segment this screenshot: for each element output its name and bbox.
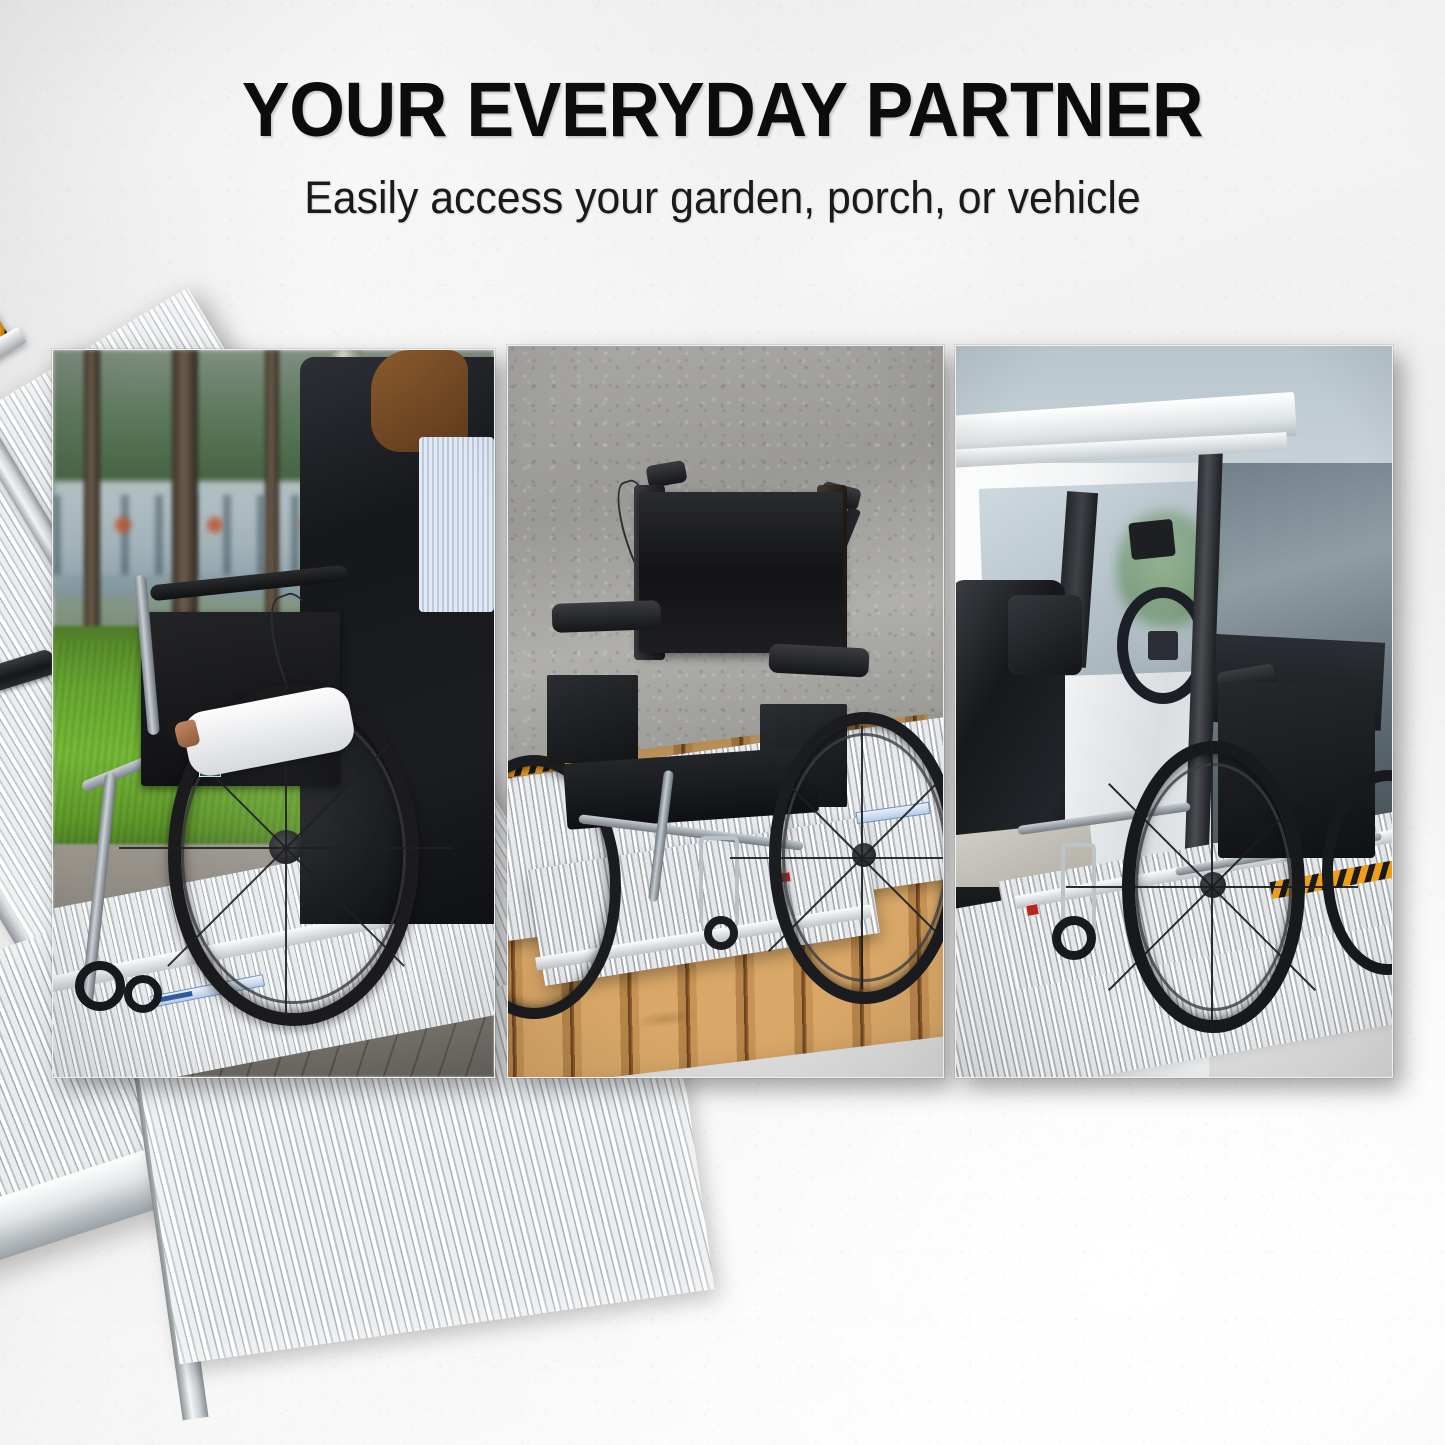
ramp-warning-label xyxy=(1025,903,1040,917)
wheelchair-armrest xyxy=(551,600,661,633)
wheelchair-armrest xyxy=(768,643,869,677)
panel-park-scene[interactable] xyxy=(52,349,495,1078)
panel-van-loading[interactable] xyxy=(955,345,1393,1078)
page-subtitle: Easily access your garden, porch, or veh… xyxy=(36,175,1409,220)
attendant-shirt xyxy=(419,437,494,611)
page-title: YOUR EVERYDAY PARTNER xyxy=(51,72,1395,149)
photo-van xyxy=(956,346,1392,1077)
poster-canvas: YOUR EVERYDAY PARTNER Easily access your… xyxy=(0,0,1445,1445)
wheelchair-backrest xyxy=(639,492,843,653)
rear-view-mirror xyxy=(1129,519,1176,560)
wheelchair-side-panel xyxy=(547,675,638,763)
photo-deck xyxy=(508,346,943,1077)
wheelchair-castor xyxy=(1052,916,1096,960)
seat-headrest xyxy=(1008,595,1082,675)
castor-fork xyxy=(699,836,738,924)
wheelchair-castor xyxy=(704,916,738,950)
wheelchair-castor xyxy=(75,961,125,1011)
photo-park xyxy=(53,350,494,1077)
header-block: YOUR EVERYDAY PARTNER Easily access your… xyxy=(0,72,1445,220)
wheelchair-castor xyxy=(124,975,162,1013)
panel-wheelchair-on-deck[interactable] xyxy=(507,345,944,1078)
